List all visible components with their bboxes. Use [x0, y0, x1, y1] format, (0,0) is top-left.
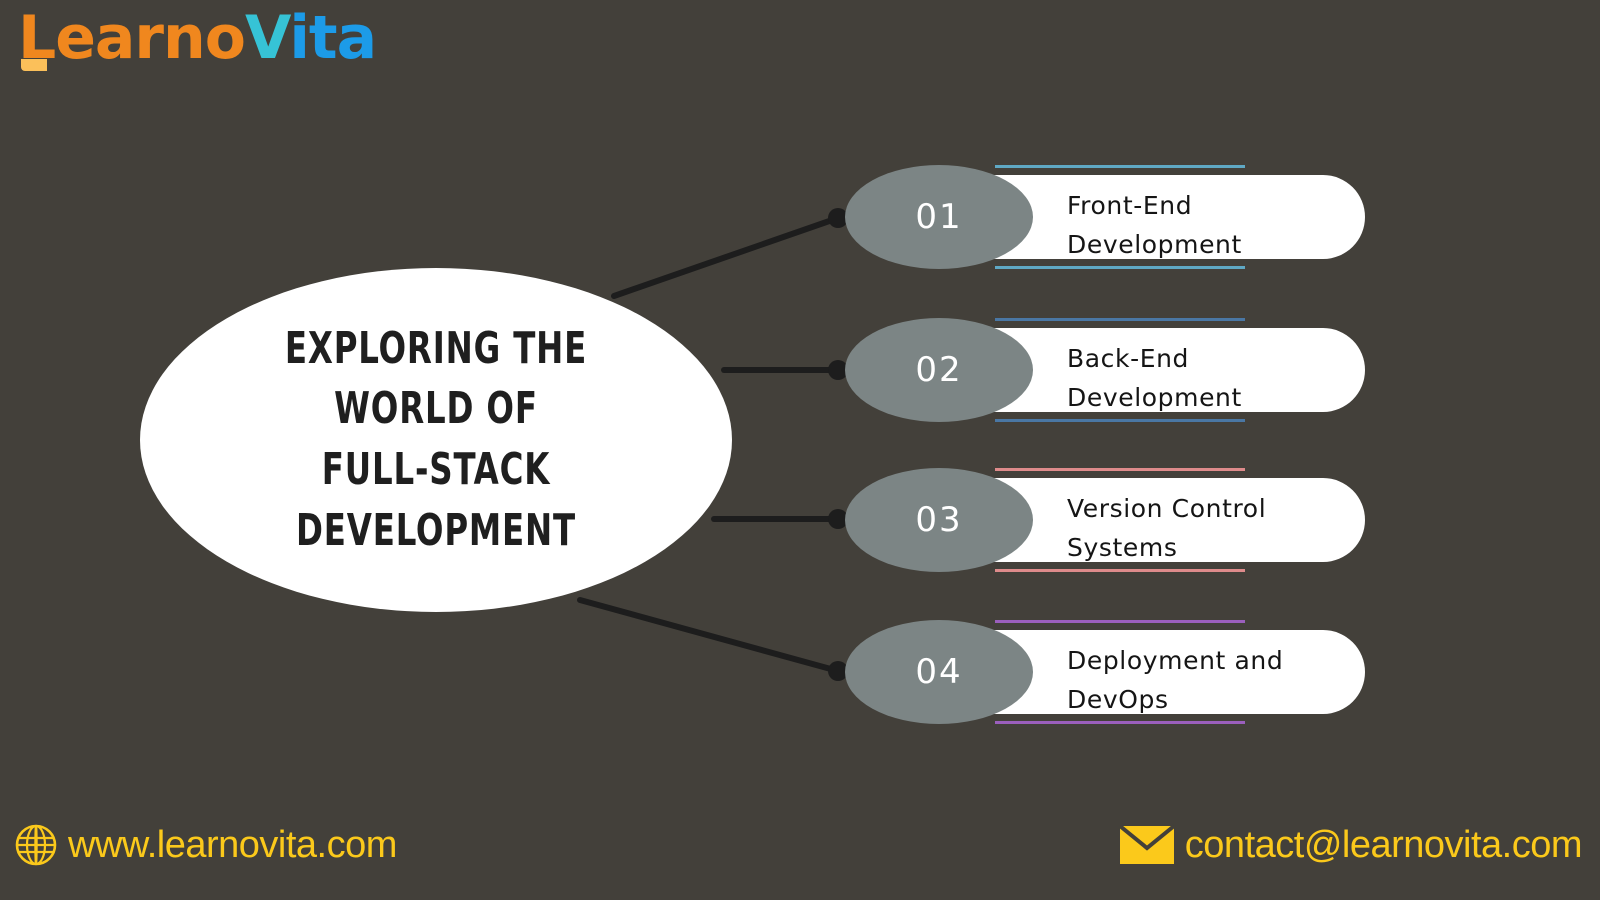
envelope-icon: [1119, 824, 1175, 866]
step-row[interactable]: Version Control Systems 03: [845, 468, 1365, 566]
footer-website[interactable]: www.learnovita.com: [14, 823, 397, 867]
footer-email[interactable]: contact@learnovita.com: [1119, 824, 1582, 866]
connector-line-4: [580, 600, 838, 671]
step-number: 02: [915, 350, 962, 390]
step-number: 01: [915, 197, 962, 237]
step-number-bubble[interactable]: 01: [845, 165, 1033, 269]
page-title: Exploring The World Of Full-Stack Develo…: [193, 319, 678, 562]
step-number-bubble[interactable]: 03: [845, 468, 1033, 572]
website-url: www.learnovita.com: [68, 826, 397, 864]
central-topic-ellipse[interactable]: Exploring The World Of Full-Stack Develo…: [140, 268, 732, 612]
step-label: Back-End Development: [1067, 340, 1367, 418]
email-address: contact@learnovita.com: [1185, 826, 1582, 864]
step-number-bubble[interactable]: 02: [845, 318, 1033, 422]
connector-line-1: [614, 218, 838, 296]
step-label: Deployment and DevOps: [1067, 642, 1367, 720]
step-row[interactable]: Deployment and DevOps 04: [845, 620, 1365, 718]
step-row[interactable]: Front-End Development 01: [845, 165, 1365, 263]
step-row[interactable]: Back-End Development 02: [845, 318, 1365, 416]
step-number-bubble[interactable]: 04: [845, 620, 1033, 724]
diagram-canvas: Exploring The World Of Full-Stack Develo…: [0, 0, 1600, 900]
step-label: Front-End Development: [1067, 187, 1367, 265]
globe-icon: [14, 823, 58, 867]
footer-bar: www.learnovita.com contact@learnovita.co…: [0, 804, 1600, 900]
step-label: Version Control Systems: [1067, 490, 1367, 568]
step-number: 03: [915, 500, 962, 540]
step-number: 04: [915, 652, 962, 692]
